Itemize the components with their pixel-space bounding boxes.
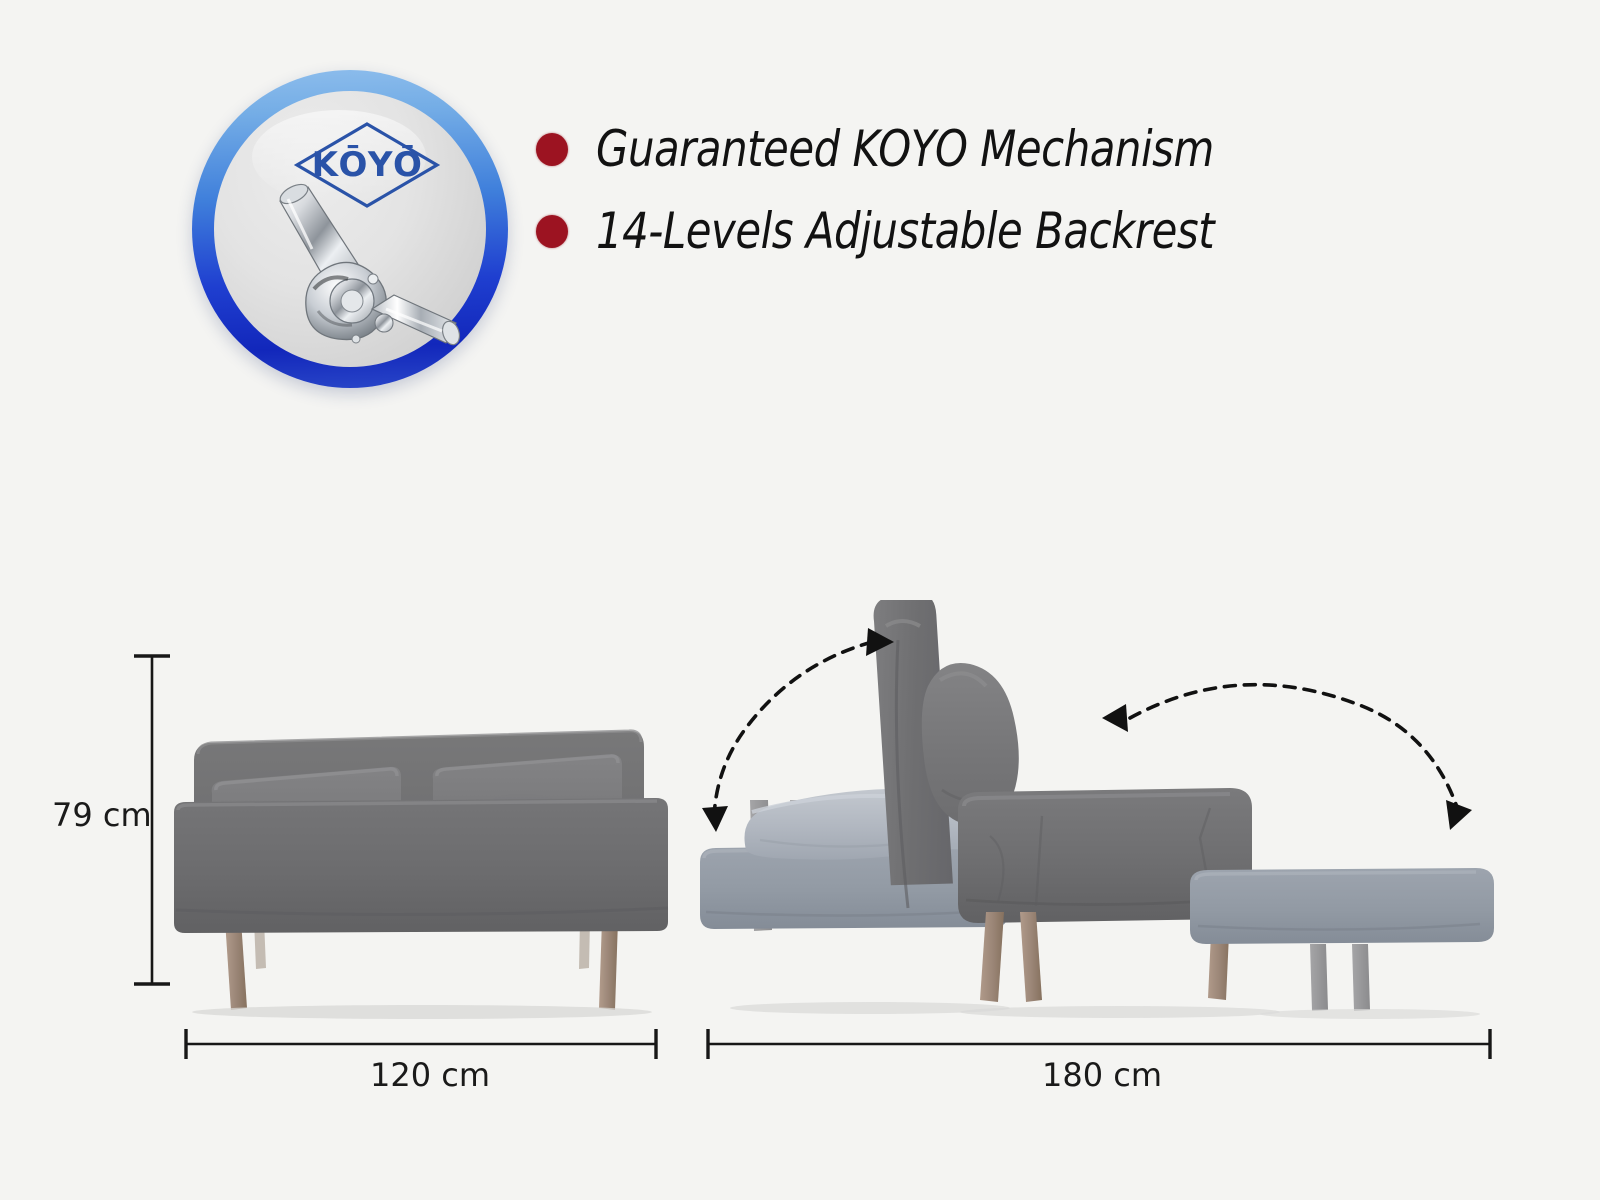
koyo-mechanism-badge: KŌYŌ [192, 70, 508, 388]
width-dimension-label-sofa: 120 cm [370, 1056, 490, 1094]
badge-inner-disc: KŌYŌ [214, 91, 486, 367]
feature-list: Guaranteed KOYO Mechanism 14-Levels Adju… [536, 108, 1366, 272]
width-dimension-label-bed: 180 cm [1042, 1056, 1162, 1094]
feature-label: Guaranteed KOYO Mechanism [596, 124, 1214, 174]
feature-item: Guaranteed KOYO Mechanism [536, 108, 1366, 190]
bullet-dot-icon [536, 215, 568, 248]
feature-item: 14-Levels Adjustable Backrest [536, 190, 1366, 272]
infographic-canvas: KŌYŌ [0, 0, 1600, 1200]
bullet-dot-icon [536, 133, 568, 166]
hinge-mechanism-icon [260, 183, 470, 355]
height-dimension-label: 79 cm [52, 796, 152, 834]
feature-label: 14-Levels Adjustable Backrest [596, 206, 1214, 256]
sofa-bed-unfolded-view [690, 600, 1510, 1020]
sofa-folded-view [150, 620, 690, 1020]
